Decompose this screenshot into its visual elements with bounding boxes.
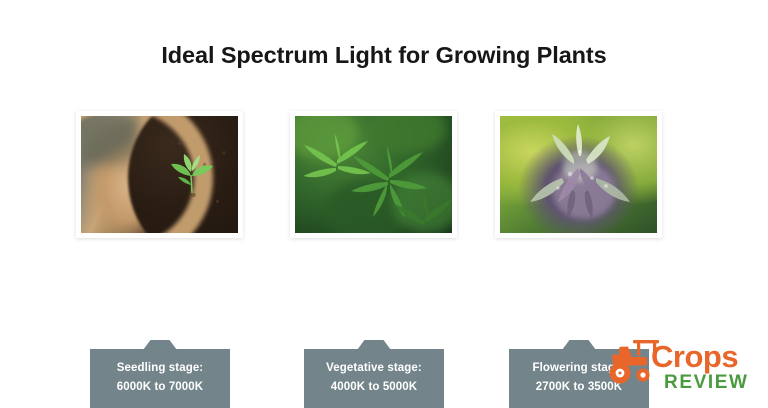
caption-line-1: Vegetative stage:: [310, 359, 438, 378]
page-title: Ideal Spectrum Light for Growing Plants: [0, 40, 768, 70]
seedling-sprout-icon: [169, 151, 215, 195]
crops-review-logo[interactable]: Crops REVIEW: [607, 335, 759, 393]
stage-card-vegetative: [290, 111, 457, 238]
logo-word-crops: Crops: [651, 341, 759, 373]
caption-tab-icon: [357, 340, 391, 350]
stage-card-flowering: [495, 111, 662, 238]
logo-wordmark: Crops REVIEW: [651, 341, 759, 392]
logo-word-review: REVIEW: [664, 373, 759, 392]
caption-line-2: 6000K to 7000K: [96, 378, 224, 397]
seedling-in-pot-photo: [81, 116, 238, 233]
cannabis-leaf-graphic: [295, 116, 452, 233]
bud-crystals-graphic: [500, 116, 657, 233]
caption-line-2: 4000K to 5000K: [310, 378, 438, 397]
stage-card-seedling: [76, 111, 243, 238]
cannabis-leaves-photo: [295, 116, 452, 233]
stage-cards-row: Seedling stage: 6000K to 7000K Vegetativ…: [0, 111, 768, 291]
flowering-bud-photo: [500, 116, 657, 233]
caption-vegetative: Vegetative stage: 4000K to 5000K: [304, 349, 444, 408]
caption-seedling: Seedling stage: 6000K to 7000K: [90, 349, 230, 408]
caption-line-1: Seedling stage:: [96, 359, 224, 378]
caption-tab-icon: [143, 340, 177, 350]
caption-tab-icon: [562, 340, 596, 350]
